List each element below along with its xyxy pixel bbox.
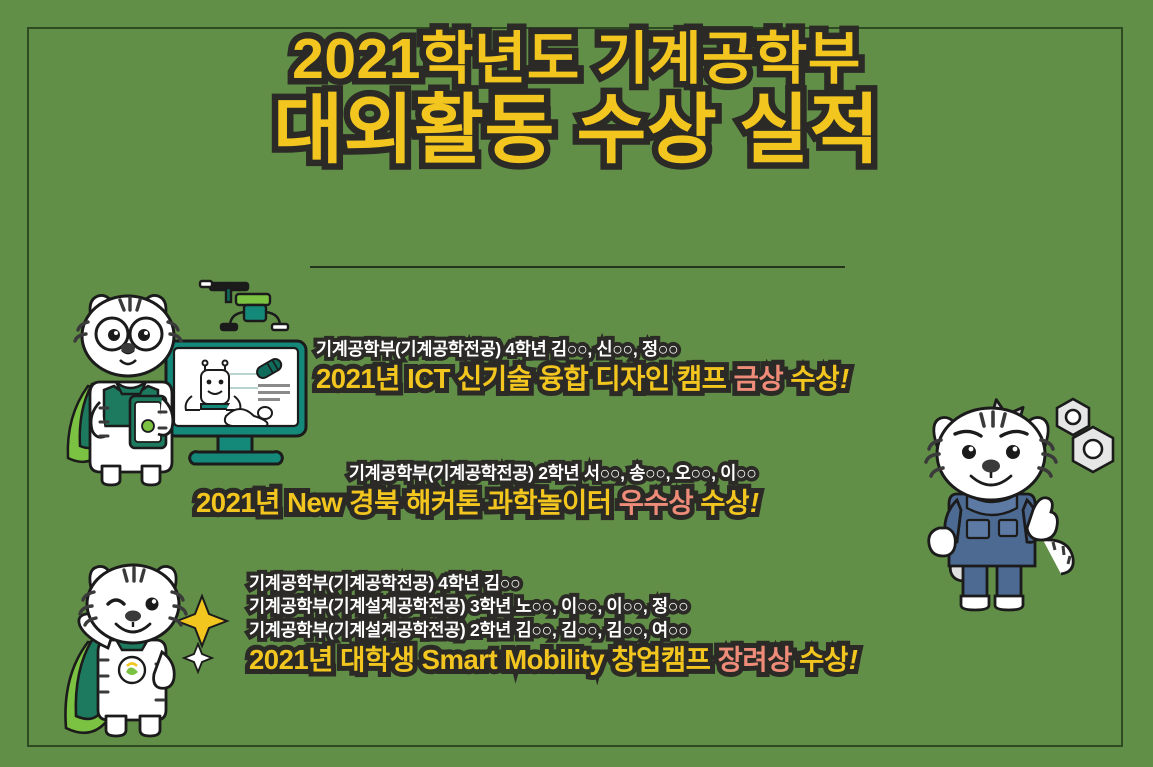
poster-canvas: 2021학년도 기계공학부 대외활동 수상 실적 기계공학부(기계공학전공) 4… <box>0 0 1153 767</box>
tiger-body <box>98 640 166 736</box>
computer-monitor-icon <box>166 341 306 464</box>
award-entry-2: 기계공학부(기계공학전공) 2학년 서○○, 송○○, 오○○, 이○○ 202… <box>196 462 759 520</box>
page-title-line-2: 대외활동 수상 실적 <box>0 92 1153 170</box>
student-line: 기계공학부(기계공학전공) 2학년 서○○, 송○○, 오○○, 이○○ <box>196 462 757 485</box>
winking-tiger-with-cape-illustration <box>52 556 247 761</box>
award-exclamation: ! <box>849 644 858 675</box>
tiger-head <box>926 408 1056 500</box>
award-title-post: 수상 <box>693 487 750 518</box>
award-entry-3-students: 기계공학부(기계공학전공) 4학년 김○○ 기계공학부(기계설계공학전공) 3학… <box>249 572 857 642</box>
emblem-badge-icon <box>119 657 145 683</box>
award-title-post: 수상 <box>783 363 840 394</box>
award-entry-1-students: 기계공학부(기계공학전공) 4학년 김○○, 신○○, 정○○ <box>316 338 849 361</box>
award-prize-label: 우수상 <box>619 487 693 518</box>
award-entry-3: 기계공학부(기계공학전공) 4학년 김○○ 기계공학부(기계설계공학전공) 3학… <box>249 572 857 677</box>
award-title-pre: 2021년 대학생 Smart Mobility 창업캠프 <box>249 644 718 675</box>
page-title-line-1: 2021학년도 기계공학부 <box>0 30 1153 88</box>
award-title-post: 수상 <box>792 644 849 675</box>
award-entry-1: 기계공학부(기계공학전공) 4학년 김○○, 신○○, 정○○ 2021년 IC… <box>316 338 849 396</box>
sparkle-icon <box>177 596 227 672</box>
student-line: 기계공학부(기계공학전공) 4학년 김○○, 신○○, 정○○ <box>316 338 849 361</box>
mechanic-tiger-with-wrench-illustration <box>905 390 1130 625</box>
drone-icon <box>200 281 288 330</box>
hex-nut-icon <box>1057 399 1113 472</box>
award-exclamation: ! <box>750 487 759 518</box>
student-line: 기계공학부(기계공학전공) 4학년 김○○ <box>249 572 857 595</box>
award-entry-3-title: 2021년 대학생 Smart Mobility 창업캠프 장려상 수상! <box>249 644 857 676</box>
award-title-pre: 2021년 New 경북 해커톤 과학놀이터 <box>196 487 619 518</box>
student-line: 기계공학부(기계설계공학전공) 3학년 노○○, 이○○, 이○○, 정○○ <box>249 595 857 618</box>
award-prize-label: 금상 <box>734 363 784 394</box>
award-exclamation: ! <box>840 363 849 394</box>
page-title: 2021학년도 기계공학부 대외활동 수상 실적 <box>0 30 1153 170</box>
award-title-pre: 2021년 ICT 신기술 융합 디자인 캠프 <box>316 363 734 394</box>
award-entry-1-title: 2021년 ICT 신기술 융합 디자인 캠프 금상 수상! <box>316 363 849 395</box>
award-entry-2-students: 기계공학부(기계공학전공) 2학년 서○○, 송○○, 오○○, 이○○ <box>196 462 759 485</box>
student-line: 기계공학부(기계설계공학전공) 2학년 김○○, 김○○, 김○○, 여○○ <box>249 619 857 642</box>
award-prize-label: 장려상 <box>718 644 792 675</box>
award-entry-2-title: 2021년 New 경북 해커톤 과학놀이터 우수상 수상! <box>196 487 759 519</box>
title-divider <box>310 266 845 268</box>
